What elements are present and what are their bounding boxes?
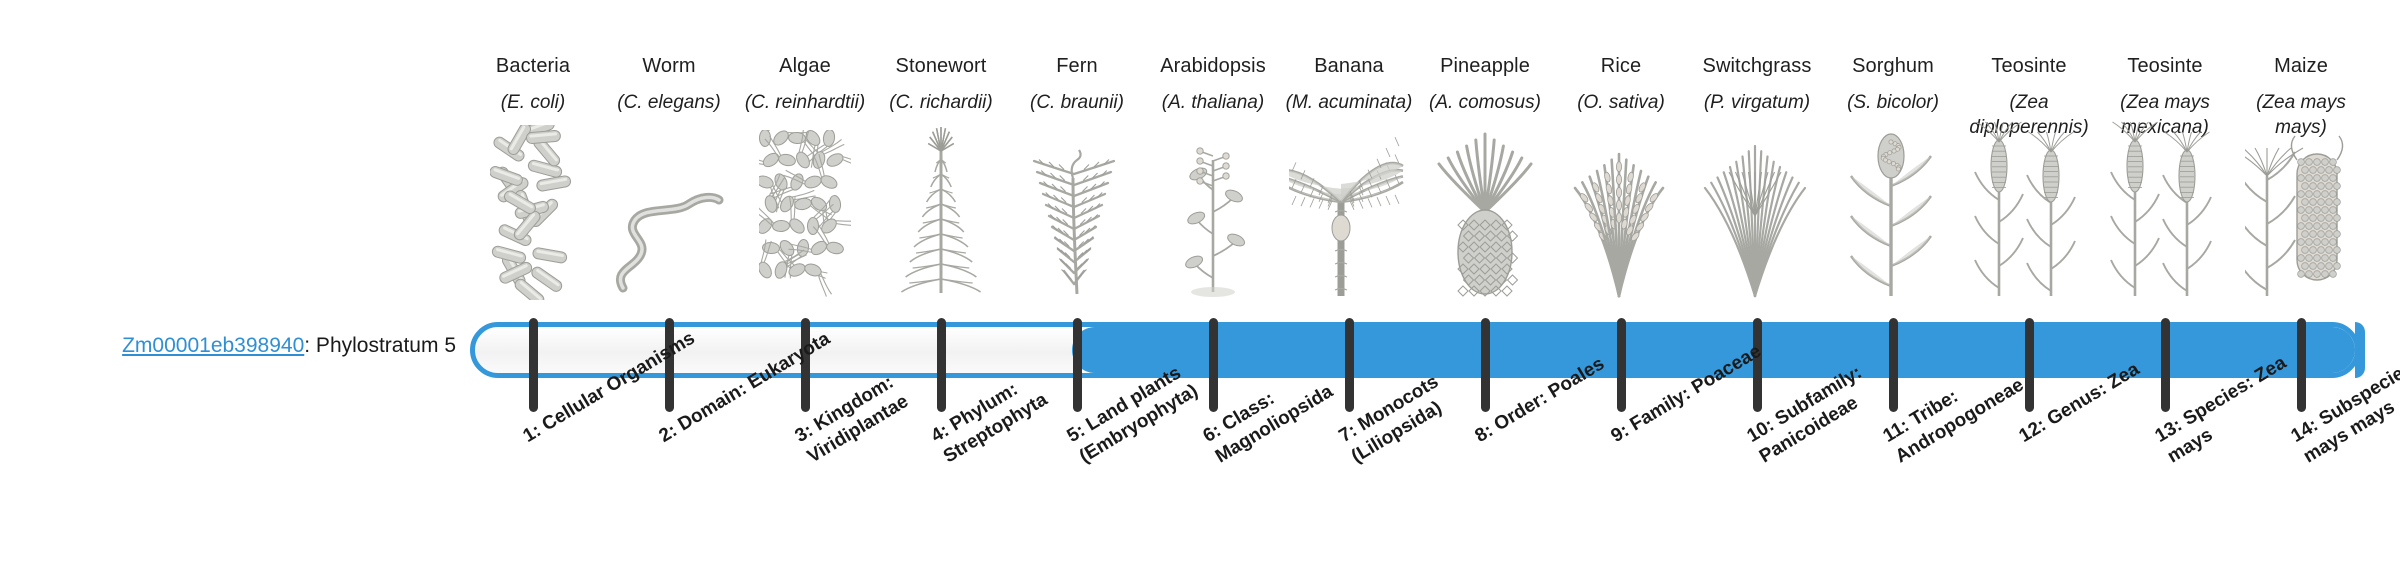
arabidopsis-icon (1145, 172, 1281, 300)
species-common-name: Fern (1009, 54, 1145, 78)
rice-icon (1553, 172, 1689, 300)
progress-right-cap (2355, 322, 2365, 378)
species-latin-name: (C. braunii) (1009, 90, 1145, 115)
switchgrass-icon (1689, 172, 1825, 300)
phylostratum-tick-1[interactable] (529, 318, 538, 412)
species-latin-name: (C. richardii) (873, 90, 1009, 115)
species-column-9: Rice(O. sativa) (1553, 54, 1689, 115)
species-latin-name: (O. sativa) (1553, 90, 1689, 115)
species-common-name: Worm (601, 54, 737, 78)
species-column-1: Bacteria(E. coli) (465, 54, 601, 115)
rank-name: Tribe: Andropogoneae (1892, 374, 2028, 467)
species-column-5: Fern(C. braunii) (1009, 54, 1145, 115)
phylostratum-timeline: Zm00001eb398940: Phylostratum 5 Bacteria… (0, 0, 2400, 580)
species-common-name: Stonewort (873, 54, 1009, 78)
sorghum-icon (1825, 172, 1961, 300)
species-latin-name: (C. elegans) (601, 90, 737, 115)
rank-name: Class: Magnoliopsida (1212, 381, 1337, 468)
species-latin-name: (S. bicolor) (1825, 90, 1961, 115)
banana-icon (1281, 172, 1417, 300)
pineapple-icon (1417, 172, 1553, 300)
species-common-name: Banana (1281, 54, 1417, 78)
species-column-6: Arabidopsis(A. thaliana) (1145, 54, 1281, 115)
species-column-7: Banana(M. acuminata) (1281, 54, 1417, 115)
rank-number: 12: (2016, 415, 2050, 447)
fern-icon (1009, 172, 1145, 300)
stonewort-icon (873, 172, 1009, 300)
gene-id-link[interactable]: Zm00001eb398940 (122, 334, 304, 357)
gene-phylostratum-label: Zm00001eb398940: Phylostratum 5 (36, 334, 456, 358)
species-common-name: Bacteria (465, 54, 601, 78)
species-common-name: Sorghum (1825, 54, 1961, 78)
worm-icon (601, 172, 737, 300)
species-common-name: Teosinte (1961, 54, 2097, 78)
teosinte-mex-icon (2097, 172, 2233, 300)
algae-icon (737, 172, 873, 300)
species-common-name: Teosinte (2097, 54, 2233, 78)
species-column-11: Sorghum(S. bicolor) (1825, 54, 1961, 115)
species-latin-name: (A. comosus) (1417, 90, 1553, 115)
rank-number: 2: (656, 420, 681, 447)
species-common-name: Rice (1553, 54, 1689, 78)
species-common-name: Algae (737, 54, 873, 78)
maize-icon (2233, 172, 2369, 300)
species-latin-name: (E. coli) (465, 90, 601, 115)
rank-name: Phylum: Streptophyta (940, 379, 1051, 468)
species-latin-name: (P. virgatum) (1689, 90, 1825, 115)
rank-number: 8: (1472, 420, 1497, 447)
species-column-10: Switchgrass(P. virgatum) (1689, 54, 1825, 115)
species-column-4: Stonewort(C. richardii) (873, 54, 1009, 115)
species-latin-name: (A. thaliana) (1145, 90, 1281, 115)
species-common-name: Switchgrass (1689, 54, 1825, 78)
gene-phylostratum-text: : Phylostratum 5 (304, 334, 456, 357)
species-latin-name: (M. acuminata) (1281, 90, 1417, 115)
rank-name: Kingdom: Viridiplantae (804, 372, 912, 468)
teosinte-diplo-icon (1961, 172, 2097, 300)
species-column-2: Worm(C. elegans) (601, 54, 737, 115)
species-common-name: Arabidopsis (1145, 54, 1281, 78)
species-column-8: Pineapple(A. comosus) (1417, 54, 1553, 115)
rank-number: 1: (520, 420, 545, 447)
species-common-name: Maize (2233, 54, 2369, 78)
species-column-3: Algae(C. reinhardtii) (737, 54, 873, 115)
species-latin-name: (C. reinhardtii) (737, 90, 873, 115)
species-common-name: Pineapple (1417, 54, 1553, 78)
rank-number: 9: (1608, 420, 1633, 447)
bacteria-icon (465, 172, 601, 300)
